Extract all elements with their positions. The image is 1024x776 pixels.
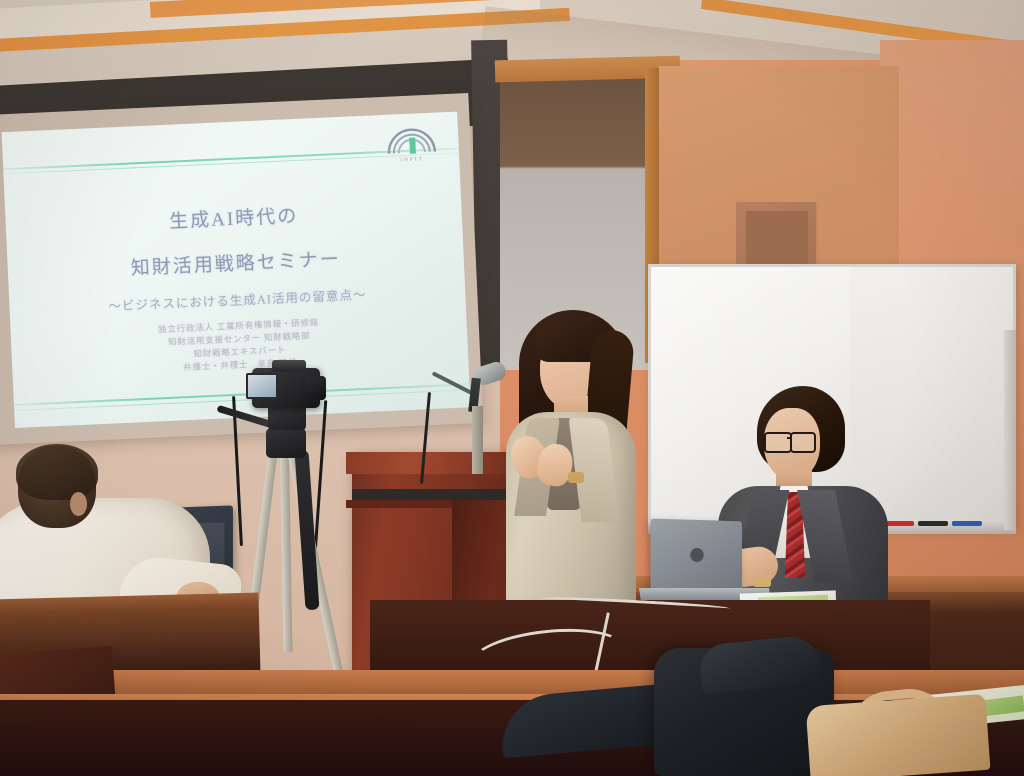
slide-title-line-1: 生成AI時代の bbox=[169, 201, 299, 234]
tote-bag bbox=[806, 694, 991, 776]
marker-black bbox=[918, 521, 948, 526]
whiteboard-edge bbox=[1004, 330, 1016, 530]
slide-subtitle: ～ビジネスにおける生成AI活用の留意点～ bbox=[108, 284, 367, 315]
projected-slide: INPIT 生成AI時代の 知財活用戦略セミナー ～ビジネスにおける生成AI活用… bbox=[2, 112, 471, 428]
slide-title-line-2: 知財活用戦略セミナー bbox=[130, 244, 341, 280]
inpit-logo-icon: INPIT bbox=[382, 120, 442, 163]
wristwatch bbox=[568, 472, 584, 483]
slide-text-block: 生成AI時代の 知財活用戦略セミナー ～ビジネスにおける生成AI活用の留意点～ … bbox=[4, 164, 469, 402]
inpit-logo-text: INPIT bbox=[383, 156, 441, 164]
operator-hair bbox=[16, 444, 98, 500]
projection-screen: INPIT 生成AI時代の 知財活用戦略セミナー ～ビジネスにおける生成AI活用… bbox=[0, 93, 483, 445]
laptop-right[interactable] bbox=[650, 519, 741, 594]
microphone-stand bbox=[472, 406, 483, 474]
podium-lip bbox=[346, 500, 458, 508]
marker-blue bbox=[952, 521, 982, 526]
eyeglasses-bridge bbox=[787, 437, 792, 439]
operator-ear bbox=[70, 492, 87, 516]
camera-top-plate bbox=[272, 360, 306, 372]
eyeglasses-icon bbox=[764, 432, 792, 453]
laptop-logo-icon bbox=[690, 548, 703, 562]
tripod-collar bbox=[266, 428, 306, 458]
camera-lcd-screen bbox=[246, 373, 278, 399]
camera-lens-icon bbox=[306, 376, 326, 400]
seminar-room-photo: INPIT 生成AI時代の 知財活用戦略セミナー ～ビジネスにおける生成AI活用… bbox=[0, 0, 1024, 776]
wristwatch bbox=[753, 577, 771, 587]
wall-recess-panel bbox=[736, 202, 818, 264]
eyeglasses-icon bbox=[790, 432, 816, 453]
